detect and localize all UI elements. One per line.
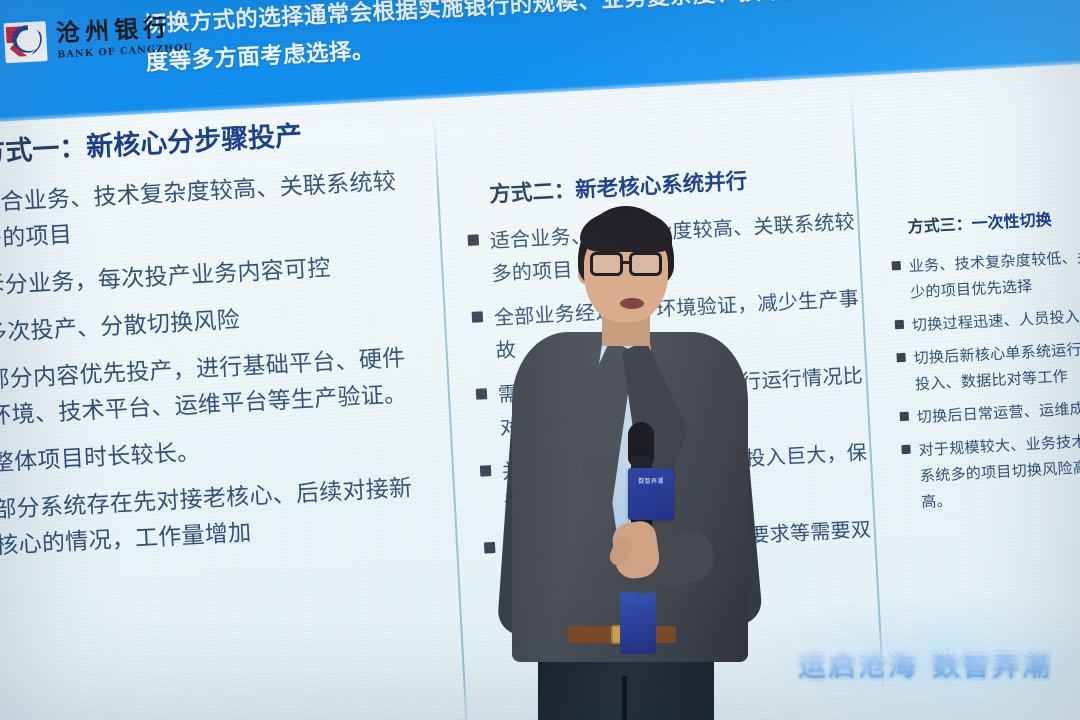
list-item: 部分内容优先投产，进行基础平台、硬件环境、技术平台、运维平台等生产验证。	[0, 340, 425, 436]
list-item: 切换后日常运营、运维成本较低	[899, 391, 1080, 431]
method-column-1: 方式一：新核心分步骤投产 适合业务、技术复杂度较高、关联系统较多的项目 拆分业务…	[0, 108, 432, 577]
microphone-flag	[628, 468, 674, 520]
list-item: 业务、技术复杂度较低、关联系统较少的项目优先选择	[891, 240, 1080, 306]
method-3-title: 方式三：一次性切换	[907, 200, 1080, 237]
bullet-text: 部分内容优先投产，进行基础平台、硬件环境、技术平台、运维平台等生产验证。	[0, 340, 425, 435]
list-item: 适合业务、技术复杂度较高、关联系统较多的项目	[0, 163, 415, 259]
bullet-text: 整体项目时长较长。	[0, 435, 201, 482]
bullet-text: 切换后日常运营、运维成本较低	[916, 393, 1080, 430]
slide-header-band: 生产环境的切换方式 主流的切换方式为三种：新老核心系统并行使用、新核心分步骤投产…	[0, 0, 1080, 126]
method-2-title-prefix: 方式二：	[489, 178, 576, 208]
speaker-leg-split	[622, 676, 627, 720]
method-1-bullet-list: 适合业务、技术复杂度较高、关联系统较多的项目 拆分业务，每次投产业务内容可控 多…	[0, 163, 432, 566]
square-bullet-icon	[892, 261, 901, 270]
bank-logo-cn: 沧州银行	[56, 14, 193, 45]
slide-header-paragraph: 主流的切换方式为三种：新老核心系统并行使用、新核心分步骤投产、一次性切换。 切换…	[141, 0, 1080, 82]
microphone-flag-label: 数智弄潮	[629, 478, 673, 486]
rule-right	[993, 695, 1019, 696]
list-item: 切换后新核心单系统运行，无需二次投入、数据比对等工作	[896, 332, 1080, 398]
speaker-mouth	[620, 298, 644, 309]
glasses-icon	[590, 252, 623, 276]
bank-logo-mark-icon	[4, 21, 48, 63]
event-subtitle-text: 金融数字化转型研讨交流会	[864, 689, 986, 702]
event-logo: 运启沧海数智弄潮 金融数字化转型研讨交流会	[798, 644, 1052, 702]
square-bullet-icon	[895, 320, 904, 329]
bullet-text: 拆分业务，每次投产业务内容可控	[0, 250, 332, 305]
square-bullet-icon	[468, 234, 480, 246]
square-bullet-icon	[901, 445, 910, 454]
bullet-text: 切换后新核心单系统运行，无需二次投入、数据比对等工作	[913, 332, 1080, 397]
bullet-text: 多次投产、分散切换风险	[0, 302, 241, 352]
bullet-text: 业务、技术复杂度较低、关联系统较少的项目优先选择	[908, 240, 1080, 305]
speaker-badge	[620, 592, 656, 654]
speaker-hair-front	[580, 210, 672, 252]
square-bullet-icon	[896, 353, 905, 362]
column-divider-1	[433, 117, 468, 720]
bullet-text: 部分系统存在先对接老核心、后续对接新核心的情况，工作量增加	[0, 469, 432, 564]
square-bullet-icon	[484, 542, 496, 554]
method-column-3: 方式三：一次性切换 业务、技术复杂度较低、关联系统较少的项目优先选择 切换过程迅…	[889, 200, 1080, 523]
list-item: 对于规模较大、业务技术复杂、关联系统多的项目切换风险高、换风险高。	[901, 424, 1080, 516]
bullet-text: 切换过程迅速、人员投入较少	[911, 302, 1080, 339]
method-1-title-main: 新核心分步骤投产	[86, 121, 303, 163]
method-2-title-main: 新老核心系统并行	[575, 169, 748, 203]
bullet-text: 对于规模较大、业务技术复杂、关联系统多的项目切换风险高、换风险高。	[918, 424, 1080, 515]
method-1-title-prefix: 方式一：	[0, 132, 87, 169]
square-bullet-icon	[472, 311, 484, 323]
rule-left	[831, 695, 857, 696]
list-item: 部分系统存在先对接老核心、后续对接新核心的情况，工作量增加	[0, 469, 432, 565]
bullet-text: 适合业务、技术复杂度较高、关联系统较多的项目	[0, 163, 415, 258]
glasses-bridge-icon	[622, 261, 631, 264]
event-title-left: 运启沧海	[798, 649, 918, 682]
square-bullet-icon	[900, 412, 909, 421]
method-3-title-main: 一次性切换	[971, 210, 1052, 233]
screenshot-stage: 生产环境的切换方式 主流的切换方式为三种：新老核心系统并行使用、新核心分步骤投产…	[0, 0, 1080, 720]
square-bullet-icon	[476, 388, 488, 400]
method-3-title-prefix: 方式三：	[907, 214, 972, 236]
event-logo-title: 运启沧海数智弄潮	[798, 644, 1052, 684]
glasses-icon	[629, 252, 662, 276]
square-bullet-icon	[480, 465, 492, 477]
event-title-right: 数智弄潮	[932, 649, 1052, 682]
speaker-person: 数智弄潮	[498, 206, 758, 720]
event-logo-subtitle: 金融数字化转型研讨交流会	[798, 689, 1052, 702]
method-2-title: 方式二：新老核心系统并行	[489, 158, 861, 209]
method-3-bullet-list: 业务、技术复杂度较低、关联系统较少的项目优先选择 切换过程迅速、人员投入较少 切…	[891, 240, 1080, 516]
list-item: 切换过程迅速、人员投入较少	[894, 299, 1080, 339]
header-body-line: 切换方式的选择通常会根据实施银行的规模、业务复杂度、技术复杂度、关联系统数量、切…	[143, 0, 1080, 82]
